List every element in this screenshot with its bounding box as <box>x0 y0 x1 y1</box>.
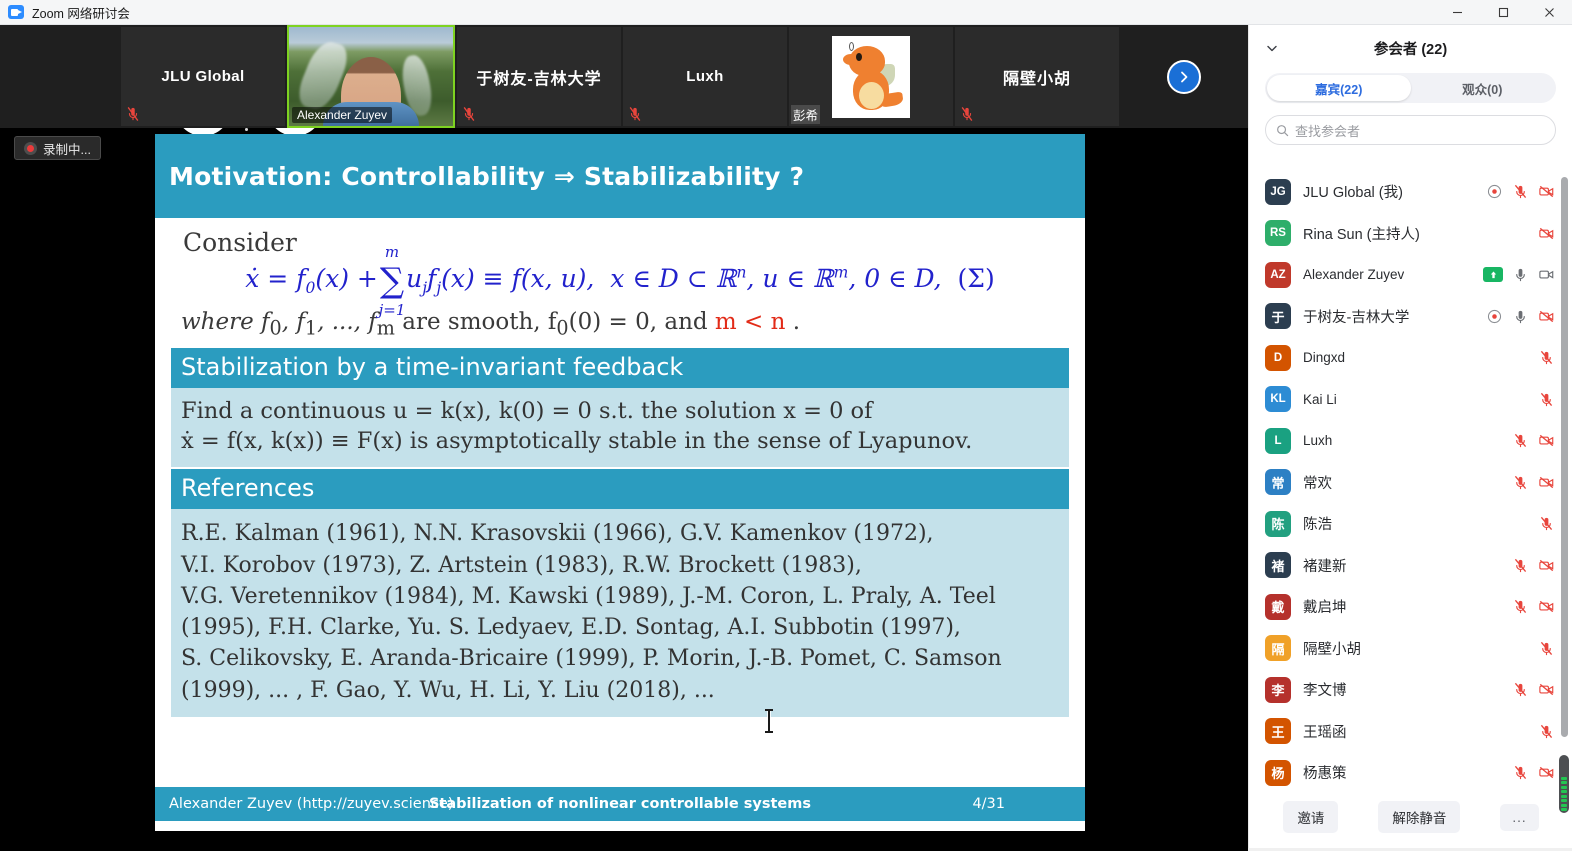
participant-status-icons <box>1512 681 1555 698</box>
equation-domain3: , 0 ∈ D, <box>848 264 941 293</box>
participant-name: 陈浩 <box>1303 513 1332 534</box>
block-body: R.E. Kalman (1961), N.N. Krasovskii (196… <box>171 509 1069 716</box>
reference-line: V.I. Korobov (1973), Z. Artstein (1983),… <box>181 550 1059 581</box>
panel-title: 参会者 (22) <box>1249 38 1572 59</box>
equation-terms-f: f <box>427 264 436 293</box>
where-highlight: m < n <box>715 309 786 335</box>
recording-label: 录制中... <box>43 139 91 158</box>
sum-lower-limit: j=1 <box>379 301 406 319</box>
window-titlebar: Zoom 网络研讨会 <box>0 0 1572 25</box>
block-heading: References <box>171 469 1069 509</box>
strip-next-page[interactable] <box>1120 25 1248 128</box>
profile-picture <box>832 36 910 118</box>
slide-footer: Alexander Zuyev (http://zuyev.science) S… <box>155 787 1085 821</box>
participant-name: 于树友-吉林大学 <box>1303 306 1409 327</box>
participant-status-icons <box>1538 723 1555 740</box>
where-part2: , f <box>282 309 305 335</box>
panel-scrollbar[interactable] <box>1561 177 1568 737</box>
participant-name: 常欢 <box>1303 472 1332 493</box>
avatar: 于 <box>1265 303 1291 329</box>
mic-muted-icon[interactable] <box>1512 474 1529 491</box>
video-muted-icon[interactable] <box>1538 225 1555 242</box>
mic-muted-icon[interactable] <box>1538 640 1555 657</box>
equation-terms: u <box>406 264 422 293</box>
tab-guests[interactable]: 嘉宾(22) <box>1267 75 1411 101</box>
block-heading: Stabilization by a time-invariant feedba… <box>171 348 1069 388</box>
reference-line: R.E. Kalman (1961), N.N. Krasovskii (196… <box>181 518 1059 549</box>
page-title: Motivation: Controllability ⇒ Stabilizab… <box>155 162 804 191</box>
where-sub2: 1 <box>305 317 317 340</box>
window-title: Zoom 网络研讨会 <box>32 3 130 22</box>
reference-line: V.G. Veretennikov (1984), M. Kawski (198… <box>181 581 1059 612</box>
list-item[interactable]: 隔 隔壁小胡 <box>1249 628 1572 670</box>
where-part1: where f <box>181 309 270 335</box>
video-tile-yushuyou[interactable]: 于树友-吉林大学 <box>457 27 621 126</box>
mic-on-icon[interactable] <box>1512 266 1529 283</box>
mic-muted-icon <box>126 106 140 122</box>
tile-name: JLU Global <box>157 68 248 85</box>
participant-status-icons <box>1486 183 1555 200</box>
participant-status-icons <box>1512 598 1555 615</box>
zoom-webinar-window: Zoom 网络研讨会 JLU Global <box>0 0 1572 851</box>
reference-line: (1999), ... , F. Gao, Y. Wu, H. Li, Y. L… <box>181 675 1059 706</box>
tile-name: Alexander Zuyev <box>292 107 392 123</box>
equation-terms-tail: (x) ≡ f(x, u), <box>441 264 594 293</box>
mic-muted-icon[interactable] <box>1512 557 1529 574</box>
where-sub3: m <box>377 317 395 340</box>
video-muted-icon[interactable] <box>1538 308 1555 325</box>
where-part3: , ..., f <box>317 309 377 335</box>
panel-footer-toolbar: 邀请 解除静音 ... <box>1249 797 1572 837</box>
screen-share-badge-icon <box>1483 267 1503 282</box>
close-icon[interactable] <box>1526 0 1572 25</box>
participant-name: 李文博 <box>1303 679 1347 700</box>
video-muted-icon[interactable] <box>1538 183 1555 200</box>
block-line: Find a continuous u = k(x), k(0) = 0 s.t… <box>181 397 1059 427</box>
avatar: RS <box>1265 220 1291 246</box>
search-icon <box>1276 124 1289 137</box>
search-input[interactable]: 查找参会者 <box>1265 115 1556 145</box>
panel-tabs: 嘉宾(22) 观众(0) <box>1265 73 1556 103</box>
search-placeholder: 查找参会者 <box>1295 121 1360 140</box>
avatar: D <box>1265 345 1291 371</box>
avatar: 王 <box>1265 718 1291 744</box>
mic-muted-icon[interactable] <box>1512 183 1529 200</box>
text-cursor <box>768 711 770 731</box>
equation-lhs-after: (x) + <box>315 264 378 293</box>
participant-name: Luxh <box>1303 433 1332 448</box>
list-item[interactable]: 陈 陈浩 <box>1249 503 1572 545</box>
video-tile-alexander-zuyev[interactable]: Alexander Zuyev <box>287 25 455 128</box>
equation-lhs: ẋ = f <box>245 264 305 293</box>
participant-status-icons <box>1538 349 1555 366</box>
mic-muted-icon <box>462 106 476 122</box>
avatar: 常 <box>1265 469 1291 495</box>
mic-muted-icon[interactable] <box>1538 349 1555 366</box>
video-muted-icon[interactable] <box>1538 557 1555 574</box>
mic-muted-icon[interactable] <box>1512 432 1529 449</box>
reference-line: S. Celikovsky, E. Aranda-Bricaire (1999)… <box>181 643 1059 674</box>
sigma-glyph: ∑ <box>380 261 404 301</box>
video-tile-gebixiaohu[interactable]: 隔壁小胡 <box>955 27 1119 126</box>
video-tile-pengxi[interactable]: 彭希 <box>789 27 953 126</box>
footer-page-number: 4/31 <box>972 796 1085 812</box>
avatar: 戴 <box>1265 594 1291 620</box>
presentation-slide: Motivation: Controllability ⇒ Stabilizab… <box>155 128 1085 831</box>
participant-name: Dingxd <box>1303 350 1345 365</box>
avatar: AZ <box>1265 262 1291 288</box>
participant-status-icons <box>1512 764 1555 781</box>
record-circle-icon[interactable] <box>1486 308 1503 325</box>
strip-left-padding <box>0 25 120 128</box>
video-muted-icon[interactable] <box>1538 598 1555 615</box>
video-tile-luxh[interactable]: Luxh <box>623 27 787 126</box>
list-item[interactable]: 李 李文博 <box>1249 669 1572 711</box>
video-muted-icon[interactable] <box>1538 764 1555 781</box>
participant-name: Alexander Zuyev <box>1303 267 1404 282</box>
maximize-icon[interactable] <box>1480 0 1526 25</box>
mic-muted-icon <box>628 106 642 122</box>
video-muted-icon[interactable] <box>1538 681 1555 698</box>
recording-indicator[interactable]: 录制中... <box>14 136 101 160</box>
tab-attendees[interactable]: 观众(0) <box>1411 75 1555 101</box>
avatar: L <box>1265 428 1291 454</box>
participant-name: 隔壁小胡 <box>1303 638 1361 659</box>
video-muted-icon[interactable] <box>1538 432 1555 449</box>
summation-symbol: m∑j=1 <box>380 261 404 301</box>
participant-name: 褚建新 <box>1303 555 1347 576</box>
mic-muted-icon[interactable] <box>1512 764 1529 781</box>
mic-muted-icon[interactable] <box>1538 723 1555 740</box>
tile-name: 隔壁小胡 <box>999 65 1075 89</box>
avatar: 隔 <box>1265 635 1291 661</box>
block-body: Find a continuous u = k(x), k(0) = 0 s.t… <box>171 388 1069 468</box>
footer-author: Alexander Zuyev (http://zuyev.science) <box>155 796 453 812</box>
where-sub1: 0 <box>270 317 282 340</box>
equation-domain: x ∈ D ⊂ ℝ <box>610 264 736 293</box>
reference-line: (1995), F.H. Clarke, Yu. S. Ledyaev, E.D… <box>181 612 1059 643</box>
avatar: KL <box>1265 386 1291 412</box>
avatar: 陈 <box>1265 511 1291 537</box>
more-options-button[interactable]: ... <box>1500 804 1538 831</box>
list-item[interactable]: JG JLU Global (我) <box>1249 171 1572 213</box>
search-container: 查找参会者 <box>1265 115 1556 145</box>
stabilization-block: Stabilization by a time-invariant feedba… <box>171 348 1069 468</box>
participant-status-icons <box>1538 225 1555 242</box>
list-item[interactable]: KL Kai Li <box>1249 379 1572 421</box>
where-sub4: 0 <box>556 317 568 340</box>
mic-muted-icon[interactable] <box>1538 515 1555 532</box>
participants-list[interactable]: JG JLU Global (我) RS Rina Sun (主持人) AZ A… <box>1249 171 1572 811</box>
participant-name: JLU Global (我) <box>1303 181 1403 202</box>
list-item[interactable]: 戴 戴启坤 <box>1249 586 1572 628</box>
tile-name: 彭希 <box>791 105 820 124</box>
list-item[interactable]: AZ Alexander Zuyev <box>1249 254 1572 296</box>
footer-subject: Stabilization of nonlinear controllable … <box>429 796 811 812</box>
equation-domain-sup: n <box>736 264 746 282</box>
consider-label: Consider <box>155 218 1085 257</box>
zoom-camera-icon <box>8 5 24 19</box>
participant-name: 戴启坤 <box>1303 596 1347 617</box>
video-on-icon[interactable] <box>1538 266 1555 283</box>
mic-muted-icon[interactable] <box>1512 598 1529 615</box>
where-part6: . <box>785 309 800 335</box>
avatar: 褚 <box>1265 552 1291 578</box>
list-item[interactable]: 常 常欢 <box>1249 462 1572 504</box>
participant-name: 杨惠策 <box>1303 762 1347 783</box>
where-part5: (0) = 0, and <box>569 309 715 335</box>
references-block: References R.E. Kalman (1961), N.N. Kras… <box>171 469 1069 716</box>
participant-status-icons <box>1512 557 1555 574</box>
participant-status-icons <box>1538 515 1555 532</box>
system-equation: ẋ = f0(x) +m∑j=1ujfj(x) ≡ f(x, u), x ∈ D… <box>155 257 1085 303</box>
participant-name: 王瑶函 <box>1303 721 1347 742</box>
participant-name: Rina Sun (主持人) <box>1303 223 1420 244</box>
participant-status-icons <box>1512 474 1555 491</box>
mic-muted-icon <box>960 106 974 122</box>
avatar: JG <box>1265 179 1291 205</box>
unmute-button[interactable]: 解除静音 <box>1378 801 1460 833</box>
participant-name: Kai Li <box>1303 392 1337 407</box>
record-circle-icon[interactable] <box>1486 183 1503 200</box>
mic-muted-icon[interactable] <box>1538 391 1555 408</box>
invite-button[interactable]: 邀请 <box>1283 801 1338 833</box>
equation-domain2: , u ∈ ℝ <box>746 264 833 293</box>
slide-content: Consider ẋ = f0(x) +m∑j=1ujfj(x) ≡ f(x, … <box>155 218 1085 717</box>
slide-title-bar: Motivation: Controllability ⇒ Stabilizab… <box>155 134 1085 218</box>
list-item[interactable]: 于 于树友-吉林大学 <box>1249 296 1572 338</box>
video-muted-icon[interactable] <box>1538 474 1555 491</box>
where-clause: where f0, f1, ..., fm are smooth, f0(0) … <box>155 303 1085 346</box>
video-thumbnail-strip: JLU Global Alexander Zuyev 于树友-吉林大学 <box>0 25 1248 128</box>
participant-status-icons <box>1538 391 1555 408</box>
list-item[interactable]: RS Rina Sun (主持人) <box>1249 213 1572 255</box>
avatar: 李 <box>1265 677 1291 703</box>
window-controls <box>1434 0 1572 25</box>
equation-tag: (Σ) <box>958 264 995 293</box>
chevron-down-icon[interactable] <box>1263 39 1281 57</box>
participant-status-icons <box>1538 640 1555 657</box>
participant-status-icons <box>1483 266 1555 283</box>
participants-panel: 参会者 (22) 嘉宾(22) 观众(0) 查找参会者 JG JLU Globa… <box>1248 25 1572 851</box>
list-item[interactable]: L Luxh <box>1249 420 1572 462</box>
video-tile-jlu-global[interactable]: JLU Global <box>121 27 285 126</box>
participant-status-icons <box>1512 432 1555 449</box>
tile-name: Luxh <box>682 68 727 85</box>
equation-lhs-sub: 0 <box>305 279 315 297</box>
block-line: ẋ = f(x, k(x)) ≡ F(x) is asymptotically … <box>181 427 1059 457</box>
charmander-avatar-icon <box>839 42 903 112</box>
list-item[interactable]: 杨 杨惠策 <box>1249 752 1572 794</box>
list-item[interactable]: 王 王瑶函 <box>1249 711 1572 753</box>
mic-muted-icon[interactable] <box>1512 681 1529 698</box>
tile-name: 于树友-吉林大学 <box>472 65 605 89</box>
equation-domain2-sup: m <box>834 264 849 282</box>
minimize-icon[interactable] <box>1434 0 1480 25</box>
sum-upper-limit: m <box>385 243 399 261</box>
list-item[interactable]: D Dingxd <box>1249 337 1572 379</box>
mic-on-icon[interactable] <box>1512 308 1529 325</box>
participant-status-icons <box>1486 308 1555 325</box>
avatar: 杨 <box>1265 760 1291 786</box>
chevron-right-icon[interactable] <box>1167 60 1201 94</box>
where-part4: are smooth, f <box>395 309 556 335</box>
list-item[interactable]: 褚 褚建新 <box>1249 545 1572 587</box>
panel-header: 参会者 (22) <box>1249 25 1572 71</box>
record-dot-icon <box>24 142 37 155</box>
